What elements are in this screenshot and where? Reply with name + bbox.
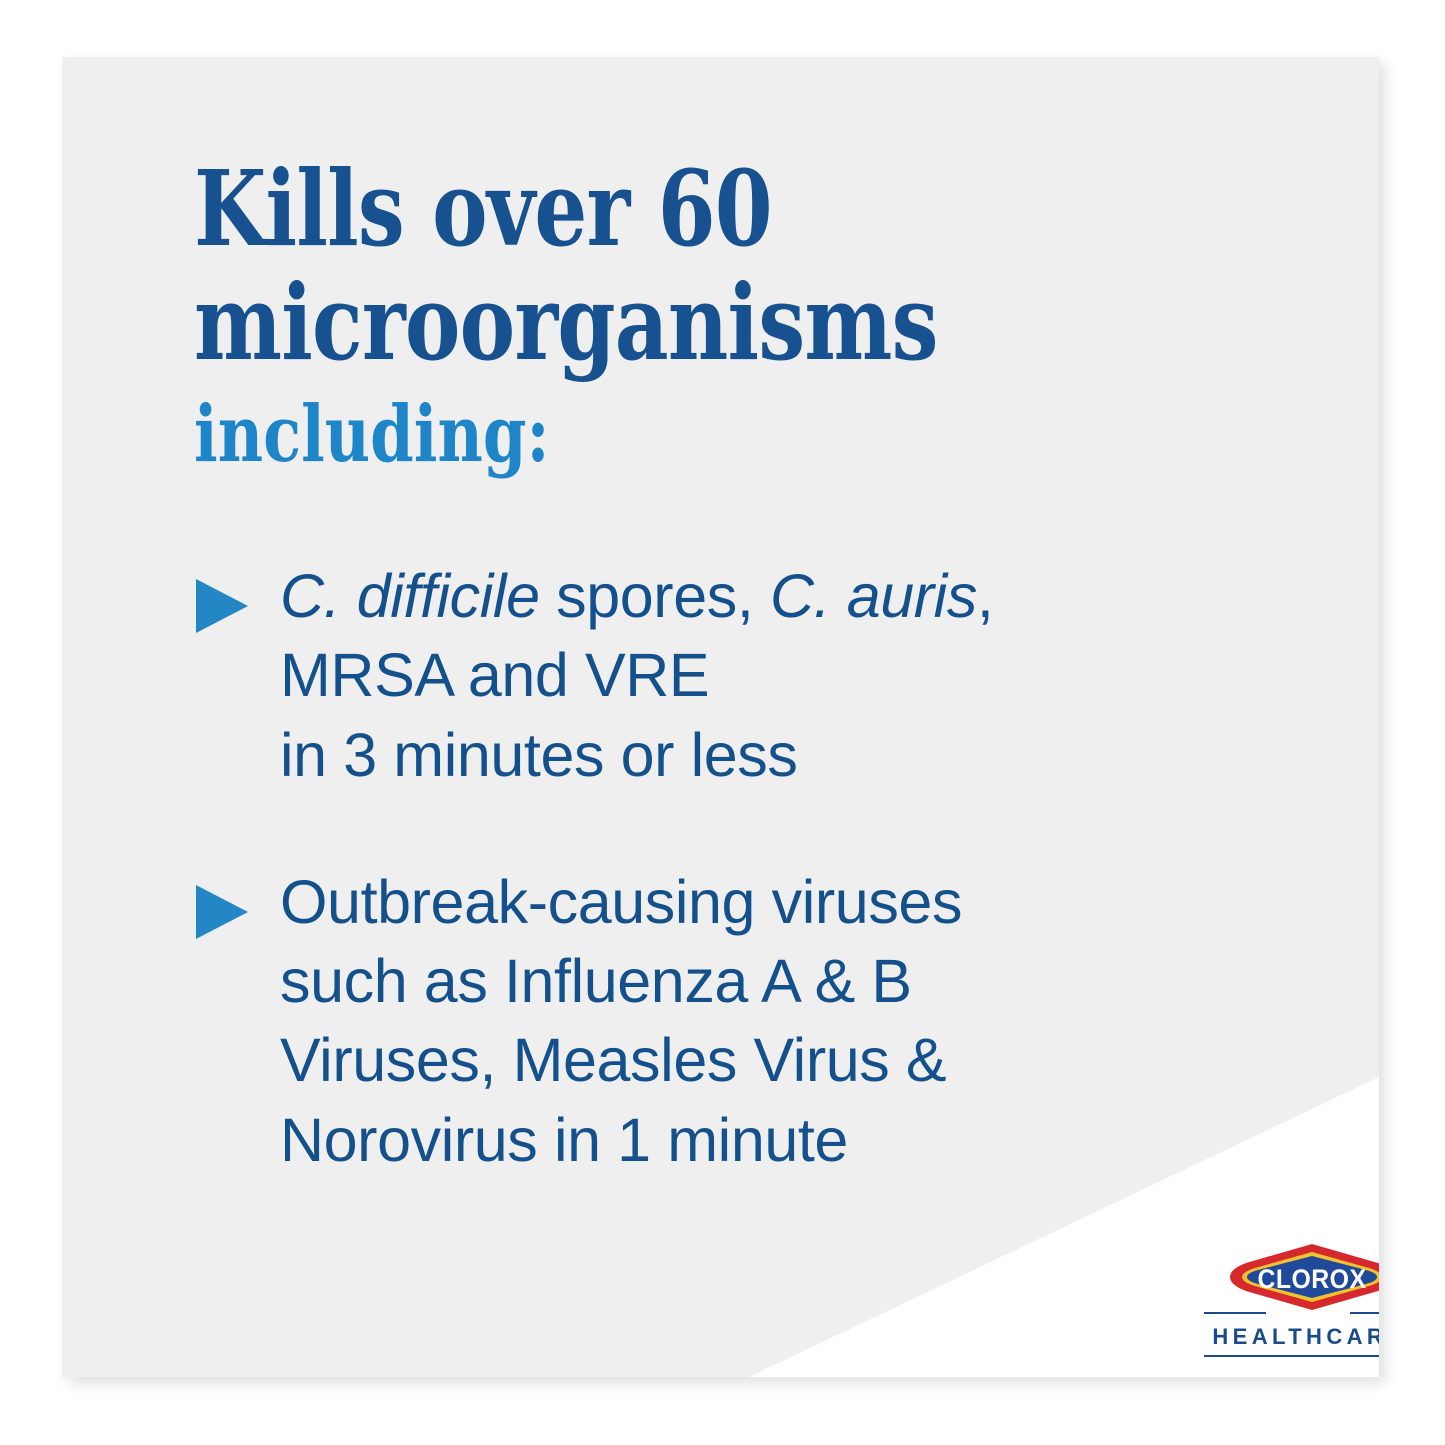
rule-left [1204,1312,1266,1314]
headline-line-2: microorganisms [194,267,1082,379]
headline-subhead: including: [194,394,1082,476]
cloroxpro-endorsement: FROM CLOROXPRO ® [1204,1373,1379,1377]
bullet-list: C. difficile spores, C. auris, MRSA and … [194,557,1324,1180]
bullet-1-line-3: in 3 minutes or less [280,716,1324,795]
list-item-text: Outbreak-causing viruses such as Influen… [280,863,1324,1180]
species-name: C. auris [770,562,977,630]
healthcare-top-rules [1204,1308,1379,1318]
species-name: C. difficile [280,562,540,630]
content-card: Kills over 60 microorganisms including: … [62,57,1379,1377]
poster-canvas: Kills over 60 microorganisms including: … [0,0,1445,1445]
clorox-diamond-icon: CLOROX [1228,1243,1379,1311]
triangle-right-icon [194,577,250,635]
clorox-wordmark: CLOROX [1257,1265,1366,1294]
bullet-1-line-1-mid: spores, [540,562,770,630]
headline-block: Kills over 60 microorganisms including: [194,153,1304,476]
healthcare-band: HEALTHCARE® [1204,1308,1379,1357]
triangle-right-icon [194,883,250,941]
healthcare-wordmark: HEALTHCARE® [1204,1318,1379,1355]
list-item-text: C. difficile spores, C. auris, MRSA and … [280,557,1324,795]
bullet-1-line-1: C. difficile spores, C. auris, [280,557,1324,636]
healthcare-text: HEALTHCARE [1212,1324,1379,1349]
healthcare-bottom-rule [1204,1355,1379,1357]
list-item: C. difficile spores, C. auris, MRSA and … [194,557,1324,795]
bullet-2-line-4: Norovirus in 1 minute [280,1101,1324,1180]
cloroxpro-diamond-icon [1340,1373,1379,1377]
rule-right [1350,1312,1379,1314]
bullet-2-line-3: Viruses, Measles Virus & [280,1021,1324,1100]
clorox-healthcare-logo: CLOROX HEALTHCARE® FROM CLOROXPRO ® [1204,1243,1379,1377]
list-item: Outbreak-causing viruses such as Influen… [194,863,1324,1180]
headline-line-1: Kills over 60 [194,153,1082,265]
bullet-1-line-1-end: , [977,562,994,630]
bullet-1-line-2: MRSA and VRE [280,636,1324,715]
bullet-2-line-1: Outbreak-causing viruses [280,863,1324,942]
bullet-2-line-2: such as Influenza A & B [280,942,1324,1021]
